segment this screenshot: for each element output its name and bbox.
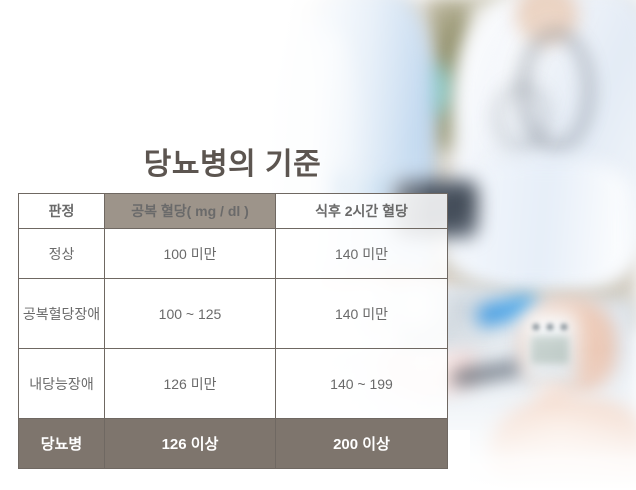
cell-normal-fasting: 100 미만 <box>105 229 276 279</box>
row-label-diabetes: 당뇨병 <box>19 419 105 469</box>
row-label-normal: 정상 <box>19 229 105 279</box>
table-header-row: 판정 공복 혈당( mg / dl ) 식후 2시간 혈당 <box>19 194 448 229</box>
cell-diabetes-fasting: 126 이상 <box>105 419 276 469</box>
cell-igt-postprandial: 140 ~ 199 <box>276 349 448 419</box>
column-header-postprandial-glucose: 식후 2시간 혈당 <box>276 194 448 229</box>
column-header-fasting-glucose: 공복 혈당( mg / dl ) <box>105 194 276 229</box>
table-row: 정상 100 미만 140 미만 <box>19 229 448 279</box>
page-title: 당뇨병의 기준 <box>18 139 447 183</box>
cell-ifg-fasting: 100 ~ 125 <box>105 279 276 349</box>
cell-normal-postprandial: 140 미만 <box>276 229 448 279</box>
diabetes-criteria-table: 판정 공복 혈당( mg / dl ) 식후 2시간 혈당 정상 100 미만 … <box>18 193 448 469</box>
table-row: 공복혈당장애 100 ~ 125 140 미만 <box>19 279 448 349</box>
cell-igt-fasting: 126 미만 <box>105 349 276 419</box>
column-header-judgement: 판정 <box>19 194 105 229</box>
row-label-impaired-glucose-tolerance: 내당능장애 <box>19 349 105 419</box>
table-row-highlighted: 당뇨병 126 이상 200 이상 <box>19 419 448 469</box>
row-label-impaired-fasting-glucose: 공복혈당장애 <box>19 279 105 349</box>
cell-diabetes-postprandial: 200 이상 <box>276 419 448 469</box>
cell-ifg-postprandial: 140 미만 <box>276 279 448 349</box>
table-row: 내당능장애 126 미만 140 ~ 199 <box>19 349 448 419</box>
